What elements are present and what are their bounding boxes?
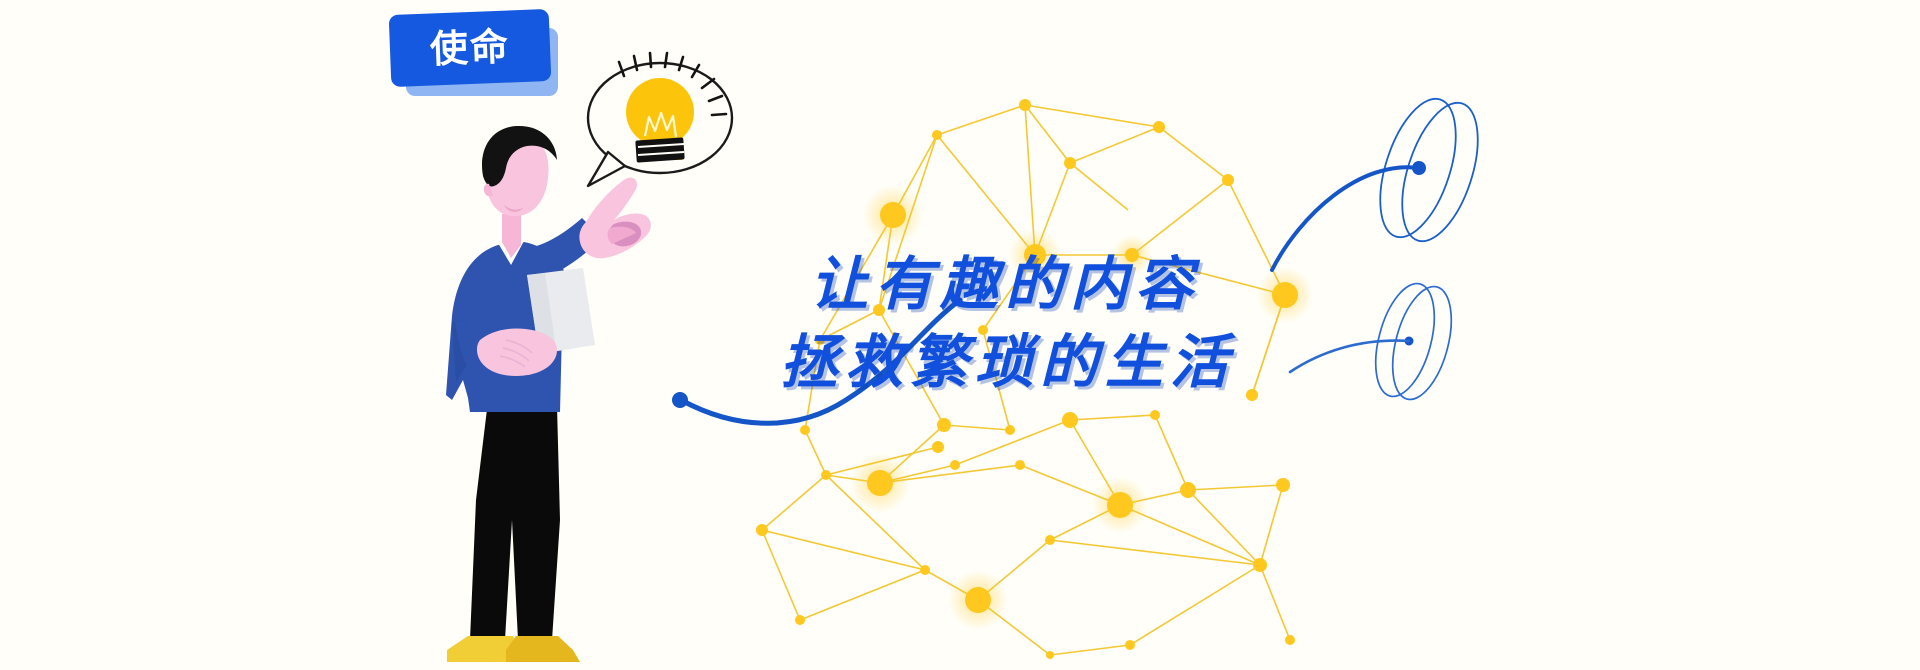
character-pointing-hand	[579, 178, 650, 259]
headline-line-2: 拯救繁琐的生活	[780, 323, 1510, 401]
character-shoe-right	[506, 636, 580, 662]
mission-badge-plate[interactable]: 使命	[389, 9, 552, 87]
mission-badge[interactable]: 使命	[390, 12, 570, 100]
headline-line-1: 让有趣的内容	[810, 245, 1510, 323]
mission-badge-label: 使命	[429, 27, 510, 68]
headline: 让有趣的内容 拯救繁琐的生活	[810, 245, 1510, 401]
mission-banner: 使命 让有趣的内容 拯救繁琐的生活	[0, 0, 1920, 670]
